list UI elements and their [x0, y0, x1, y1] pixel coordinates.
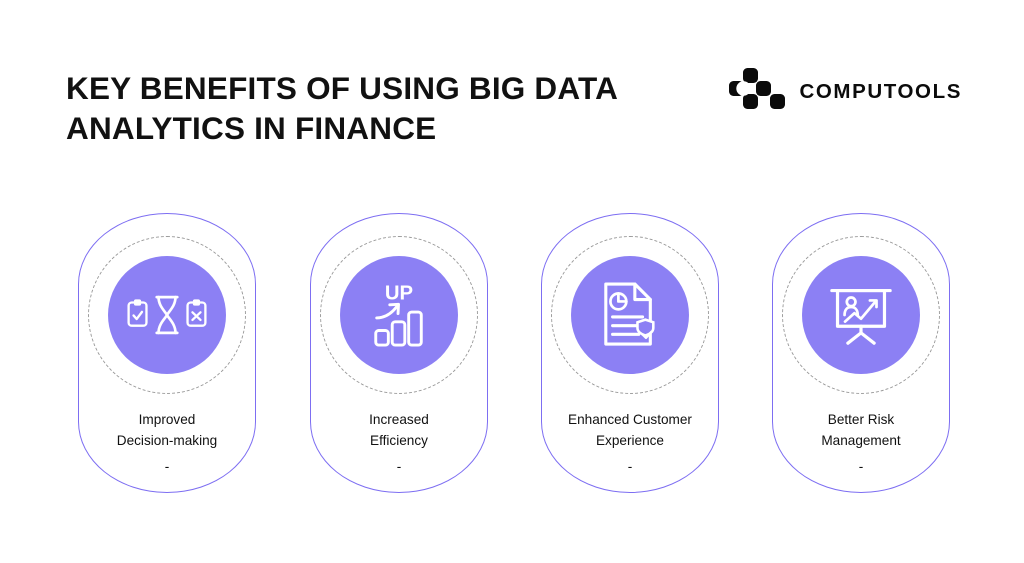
- card-dash: -: [773, 458, 949, 476]
- up-label: UP: [385, 283, 413, 305]
- icon-disc: [802, 256, 920, 374]
- card-dash: -: [542, 458, 718, 476]
- hourglass-with-clipboards-icon: [124, 290, 210, 340]
- benefit-card-increased-efficiency: UP Increased Efficiency -: [310, 213, 488, 493]
- brand-name: COMPUTOOLS: [799, 80, 962, 104]
- infographic-page: KEY BENEFITS OF USING BIG DATA ANALYTICS…: [0, 0, 1024, 563]
- card-dash: -: [311, 458, 487, 476]
- icon-disc: [108, 256, 226, 374]
- card-label: Enhanced Customer Experience: [546, 409, 714, 451]
- icon-disc: [571, 256, 689, 374]
- card-label: Increased Efficiency: [315, 409, 483, 451]
- card-label: Improved Decision-making: [83, 409, 251, 451]
- card-label: Better Risk Management: [777, 409, 945, 451]
- presentation-board-chart-icon: [828, 284, 894, 346]
- brand-lockup: COMPUTOOLS: [729, 66, 962, 118]
- benefit-card-improved-decision-making: Improved Decision-making -: [78, 213, 256, 493]
- page-title: KEY BENEFITS OF USING BIG DATA ANALYTICS…: [66, 68, 706, 148]
- up-arrow-bar-chart-icon: UP: [368, 280, 430, 350]
- icon-disc: UP: [340, 256, 458, 374]
- document-pie-chart-shield-icon: [600, 280, 660, 350]
- header: KEY BENEFITS OF USING BIG DATA ANALYTICS…: [0, 0, 1024, 180]
- computools-blocks-logo-icon: [729, 68, 785, 116]
- benefit-card-enhanced-customer-experience: Enhanced Customer Experience -: [541, 213, 719, 493]
- benefit-card-better-risk-management: Better Risk Management -: [772, 213, 950, 493]
- card-dash: -: [79, 458, 255, 476]
- benefit-cards-row: Improved Decision-making - UP: [0, 213, 1024, 495]
